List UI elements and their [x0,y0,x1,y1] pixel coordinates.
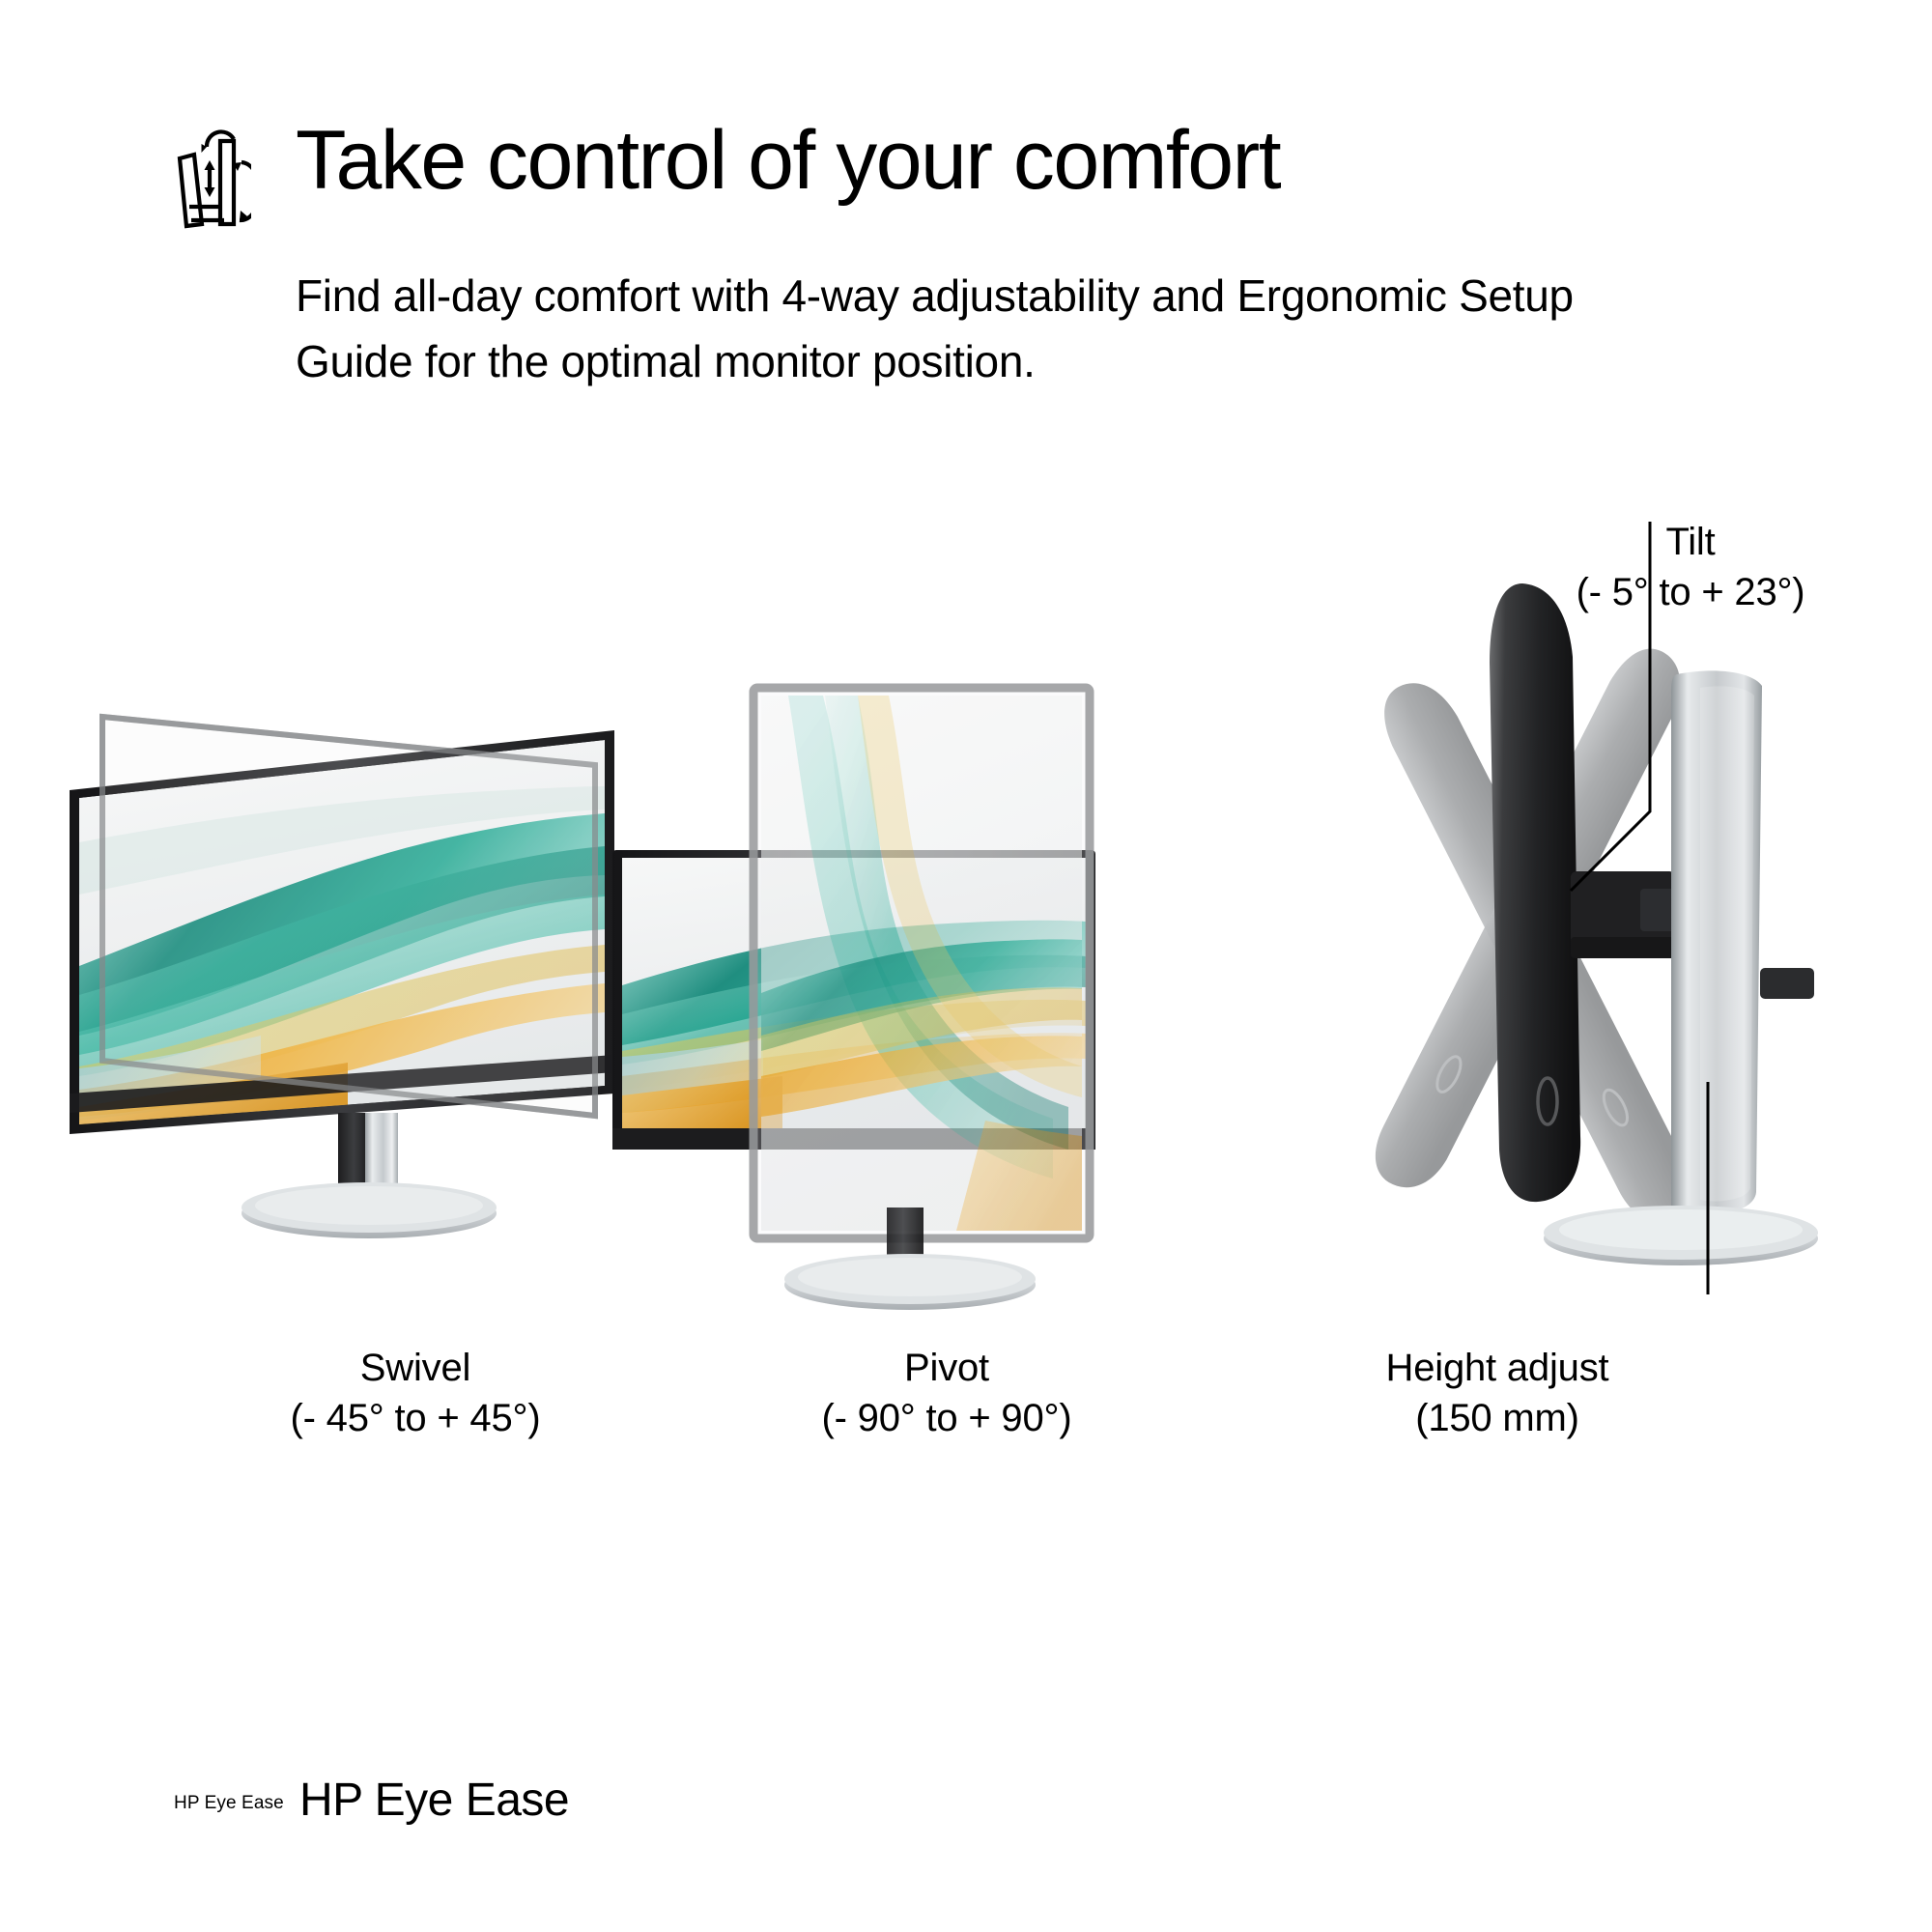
height-label-name: Height adjust [1179,1343,1816,1393]
tilt-label-range: (- 5° to + 23°) [1488,567,1893,617]
height-adjust-label: Height adjust (150 mm) [1179,1343,1816,1443]
pivot-label: Pivot (- 90° to + 90°) [676,1343,1217,1443]
vesa-hinge-bracket [1571,871,1677,958]
page-title: Take control of your comfort [296,114,1280,207]
height-stand-column [1671,670,1762,1215]
tilt-label-name: Tilt [1488,517,1893,567]
swivel-label-name: Swivel [126,1343,705,1393]
swivel-ghost-outline [102,717,595,1116]
monitor-height-adjust-icon [170,124,251,230]
subtitle-line-2: Guide for the optimal monitor position. [296,328,1725,394]
pivot-portrait-screen [753,688,1090,1238]
infographic-page: Take control of your comfort Find all-da… [0,0,1932,1932]
tilt-height-illustration [1381,522,1922,1294]
swivel-illustration [58,676,657,1294]
pivot-illustration [599,667,1217,1304]
height-label-range: (150 mm) [1179,1393,1816,1443]
hp-eye-ease-wordmark: HP Eye Ease [299,1774,569,1827]
swivel-label: Swivel (- 45° to + 45°) [126,1343,705,1443]
swivel-stand [241,1113,497,1238]
swivel-label-range: (- 45° to + 45°) [126,1393,705,1443]
page-subtitle: Find all-day comfort with 4-way adjustab… [296,263,1725,394]
tilt-callout-label: Tilt (- 5° to + 23°) [1488,517,1893,617]
tilt-monitor-profile [1490,583,1580,1202]
cable-clip [1760,968,1814,999]
height-stand-base [1544,1206,1818,1265]
pivot-label-range: (- 90° to + 90°) [676,1393,1217,1443]
pivot-label-name: Pivot [676,1343,1217,1393]
subtitle-line-1: Find all-day comfort with 4-way adjustab… [296,270,1574,321]
hp-eye-ease-badge: HP Eye Ease [174,1793,284,1814]
